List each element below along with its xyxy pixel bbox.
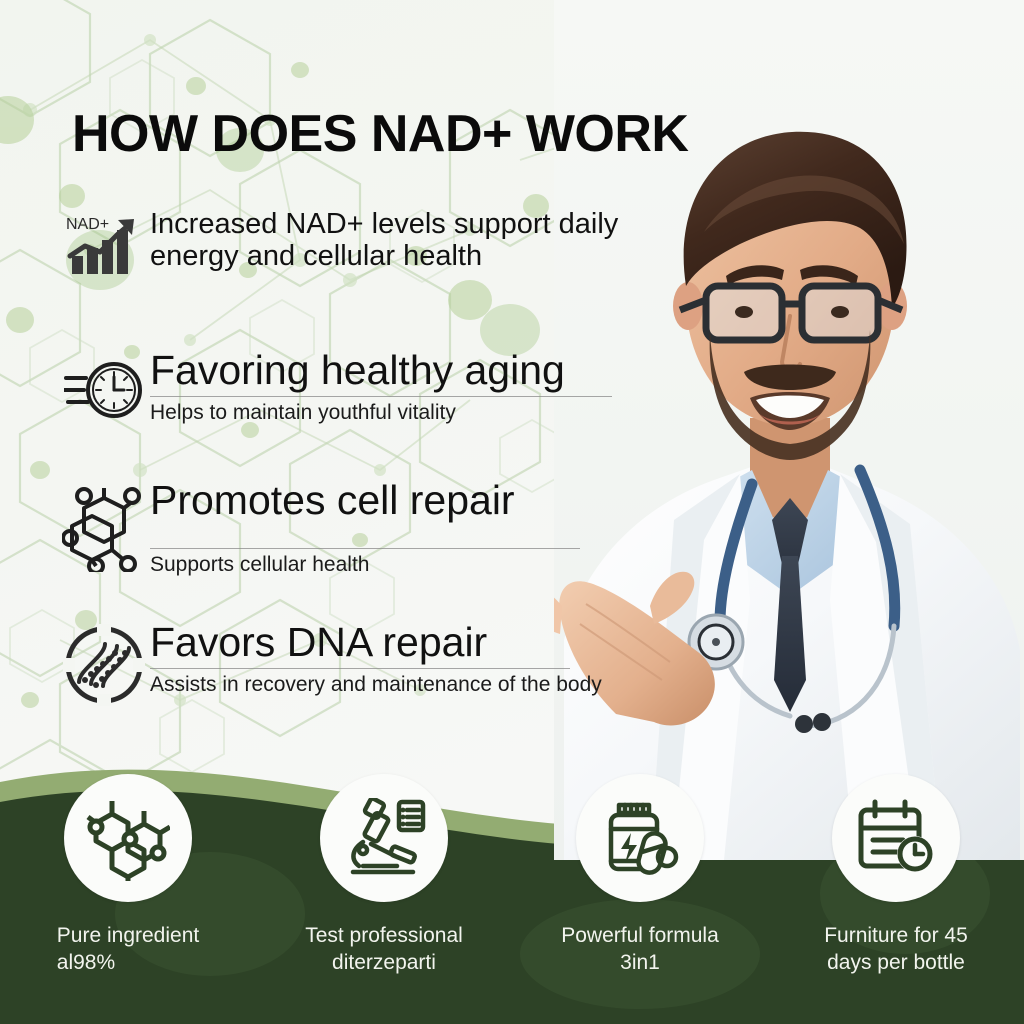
fast-clock-icon [58,348,150,426]
feature-subtitle: Supports cellular health [150,552,580,577]
feature-divider [150,668,570,669]
feature-item-nad-levels: NAD+ Increased NAD+ levels support daily… [58,208,680,278]
feature-subtitle: Helps to maintain youthful vitality [150,400,612,425]
supplement-bottle-icon [576,774,704,902]
feature-title: Increased NAD+ levels support daily ener… [150,208,680,273]
calendar-clock-icon [832,774,960,902]
feature-title: Promotes cell repair [150,478,580,524]
feature-item-dna-repair: Favors DNA repair Assists in recovery an… [58,620,602,706]
badge-pure-ingredient: Pure ingredient al98% [0,764,256,1024]
feature-divider [150,396,612,397]
badge-test-professional: Test professional diterzeparti [256,764,512,1024]
badge-row: Pure ingredient al98% [0,764,1024,1024]
feature-item-cell-repair: Promotes cell repair Supports cellular h… [58,478,580,577]
feature-text: Increased NAD+ levels support daily ener… [150,208,680,273]
feature-text: Favors DNA repair Assists in recovery an… [150,620,602,697]
badge-label: Powerful formula 3in1 [561,922,719,977]
feature-title: Favoring healthy aging [150,348,612,394]
feature-text: Promotes cell repair Supports cellular h… [150,478,580,577]
microscope-icon [320,774,448,902]
badge-label: Test professional diterzeparti [305,922,463,977]
feature-title: Favors DNA repair [150,620,602,666]
badge-days-per-bottle: Furniture for 45 days per bottle [768,764,1024,1024]
feature-text: Favoring healthy aging Helps to maintain… [150,348,612,425]
molecule-structure-icon [64,774,192,902]
feature-item-healthy-aging: Favoring healthy aging Helps to maintain… [58,348,612,426]
page-title: HOW DOES NAD+ WORK [72,104,688,164]
badge-powerful-formula: Powerful formula 3in1 [512,764,768,1024]
feature-subtitle: Assists in recovery and maintenance of t… [150,672,602,697]
infographic-poster: HOW DOES NAD+ WORK NAD+ Incre [0,0,1024,1024]
badge-label: Furniture for 45 days per bottle [824,922,968,977]
badge-label: Pure ingredient al98% [57,922,199,977]
nad-growth-chart-icon: NAD+ [58,208,150,278]
feature-divider [150,548,580,549]
dna-helix-icon [58,620,150,706]
molecule-hexagon-icon [58,478,150,572]
svg-text:NAD+: NAD+ [66,216,109,233]
